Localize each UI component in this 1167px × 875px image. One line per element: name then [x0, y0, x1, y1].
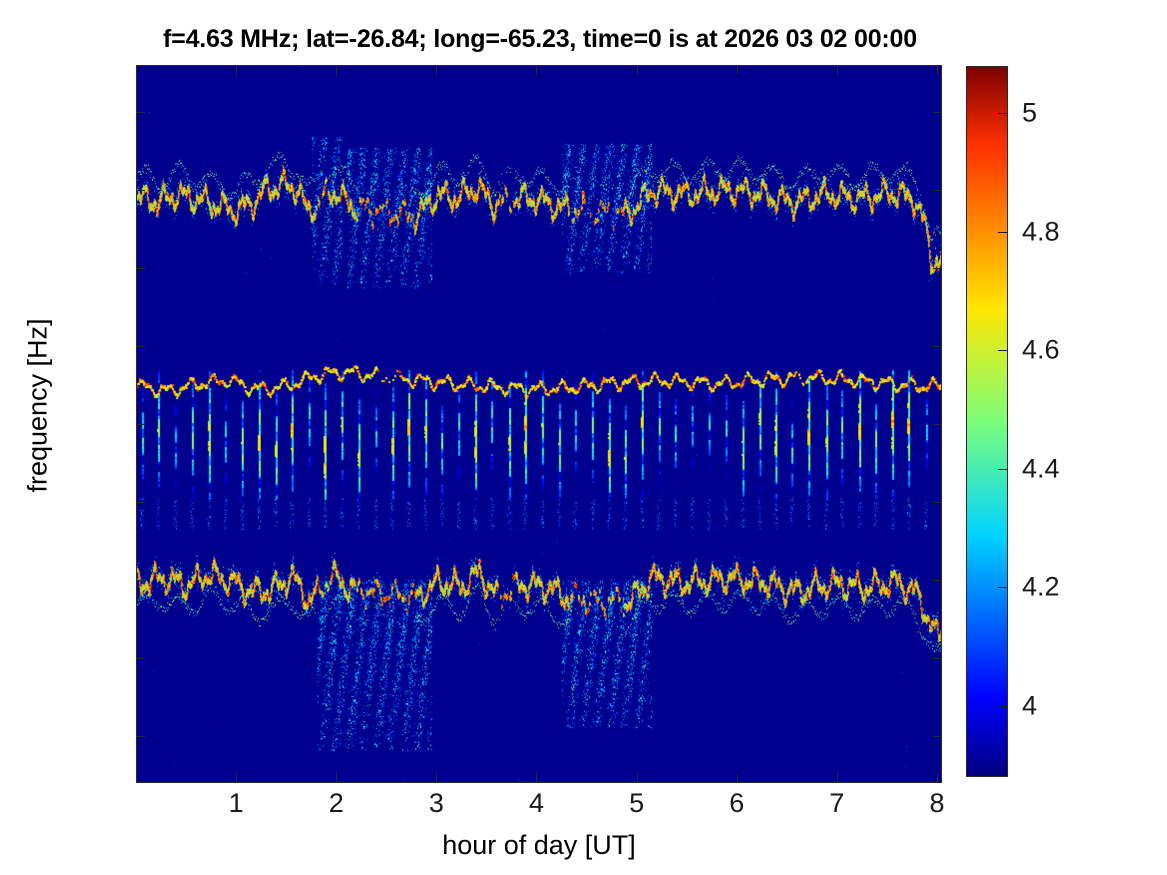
spectrogram-heatmap: [137, 66, 941, 782]
y-tick-mark: [136, 658, 145, 659]
y-tick-mark: [136, 346, 145, 347]
x-tick-label: 3: [406, 788, 466, 819]
y-tick-mark-right: [933, 736, 942, 737]
y-tick-mark-right: [933, 190, 942, 191]
colorbar-tick-label: 4.4: [1022, 453, 1060, 484]
y-tick-mark-right: [933, 580, 942, 581]
y-tick-mark-right: [933, 502, 942, 503]
colorbar-tick-label: 4.2: [1022, 572, 1060, 603]
y-tick-mark: [136, 736, 145, 737]
y-tick-mark-right: [933, 424, 942, 425]
y-tick-mark-right: [933, 112, 942, 113]
x-tick-mark: [637, 773, 638, 782]
x-tick-label: 1: [206, 788, 266, 819]
colorbar-tick-mark: [998, 706, 1007, 707]
x-tick-mark: [737, 773, 738, 782]
x-tick-mark: [536, 773, 537, 782]
colorbar[interactable]: [966, 66, 1008, 777]
colorbar-tick-label: 4: [1022, 690, 1037, 721]
x-tick-mark-top: [737, 66, 738, 75]
x-tick-mark-top: [536, 66, 537, 75]
x-tick-label: 6: [707, 788, 767, 819]
colorbar-tick-mark: [998, 232, 1007, 233]
y-axis-label: frequency [Hz]: [23, 126, 54, 686]
x-axis-label: hour of day [UT]: [136, 830, 942, 861]
x-tick-mark-top: [937, 66, 938, 75]
colorbar-tick-mark: [998, 469, 1007, 470]
x-tick-mark: [336, 773, 337, 782]
x-tick-mark: [837, 773, 838, 782]
colorbar-tick-label: 5: [1022, 98, 1037, 129]
y-tick-mark: [136, 112, 145, 113]
x-tick-label: 5: [607, 788, 667, 819]
x-tick-mark: [236, 773, 237, 782]
y-tick-mark-right: [933, 658, 942, 659]
page-title: f=4.63 MHz; lat=-26.84; long=-65.23, tim…: [60, 25, 1020, 54]
y-tick-mark: [136, 502, 145, 503]
figure-canvas: f=4.63 MHz; lat=-26.84; long=-65.23, tim…: [0, 0, 1167, 875]
colorbar-tick-label: 4.6: [1022, 335, 1060, 366]
y-tick-mark: [136, 268, 145, 269]
x-tick-mark-top: [336, 66, 337, 75]
x-tick-mark-top: [837, 66, 838, 75]
y-tick-mark-right: [933, 346, 942, 347]
x-tick-label: 7: [807, 788, 867, 819]
y-tick-mark-right: [933, 268, 942, 269]
y-tick-mark: [136, 424, 145, 425]
x-tick-mark: [937, 773, 938, 782]
x-tick-label: 2: [306, 788, 366, 819]
x-tick-mark-top: [637, 66, 638, 75]
colorbar-gradient: [967, 67, 1007, 776]
x-tick-mark: [436, 773, 437, 782]
y-tick-mark: [136, 580, 145, 581]
colorbar-tick-mark: [998, 350, 1007, 351]
colorbar-tick-mark: [998, 113, 1007, 114]
y-tick-mark: [136, 190, 145, 191]
colorbar-tick-mark: [998, 587, 1007, 588]
colorbar-tick-label: 4.8: [1022, 216, 1060, 247]
x-tick-label: 8: [907, 788, 967, 819]
spectrogram-axes[interactable]: [136, 65, 942, 783]
x-tick-mark-top: [436, 66, 437, 75]
x-tick-mark-top: [236, 66, 237, 75]
x-tick-label: 4: [506, 788, 566, 819]
